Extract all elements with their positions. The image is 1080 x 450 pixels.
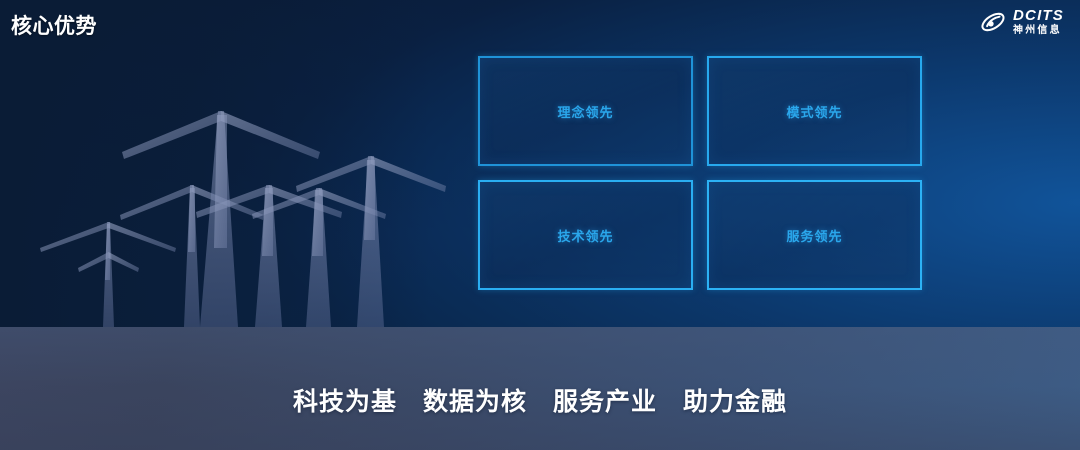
brand-logo-text: DCITS 神州信息	[1013, 8, 1064, 36]
advantage-card-service[interactable]: 服务领先	[707, 180, 922, 290]
advantage-card-technology[interactable]: 技术领先	[478, 180, 693, 290]
brand-name-en: DCITS	[1013, 8, 1064, 23]
advantage-card-label: 服务领先	[786, 226, 842, 245]
turbine-b	[120, 185, 264, 327]
advantage-card-grid: 理念领先 模式领先 技术领先 服务领先	[478, 56, 922, 298]
slide-core-advantages: 核心优势 DCITS 神州信息 理念领先 模式领先 技术领先 服务领先 科技为基…	[0, 0, 1080, 450]
advantage-card-label: 理念领先	[557, 102, 613, 121]
advantage-card-concept[interactable]: 理念领先	[478, 56, 693, 166]
advantage-card-label: 模式领先	[786, 102, 842, 121]
tagline: 科技为基 数据为核 服务产业 助力金融	[0, 382, 1080, 418]
dcits-swirl-logo-icon	[980, 9, 1006, 35]
turbine-a	[40, 222, 176, 327]
advantage-card-label: 技术领先	[557, 226, 613, 245]
brand-logo: DCITS 神州信息	[980, 8, 1064, 36]
page-title: 核心优势	[11, 10, 97, 40]
brand-name-cn: 神州信息	[1013, 26, 1062, 36]
turbine-c	[122, 111, 320, 327]
advantage-card-model[interactable]: 模式领先	[707, 56, 922, 166]
